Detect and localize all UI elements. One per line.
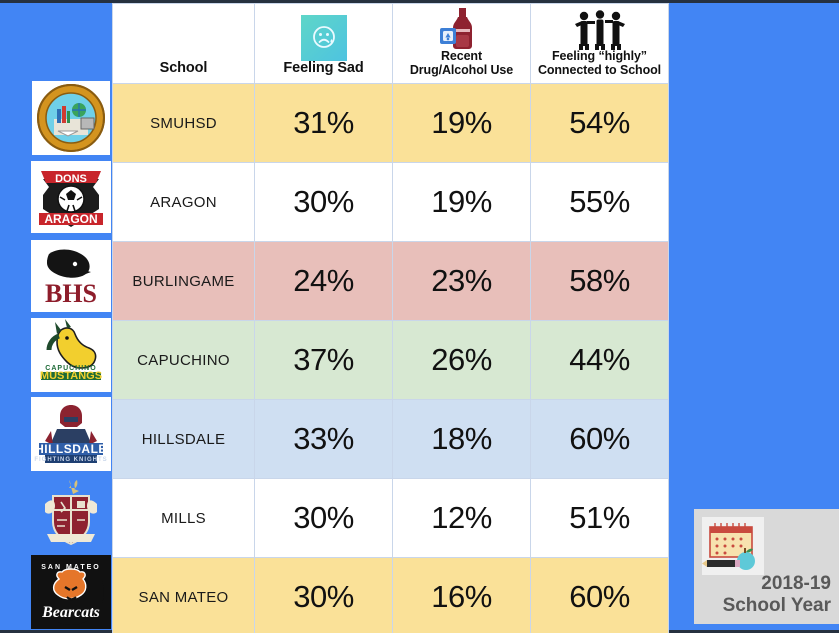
cell-feeling-sad: 30% (255, 558, 393, 633)
recycling-badge-icon (440, 28, 456, 44)
cell-school-name: SMUHSD (113, 84, 255, 163)
table-row: MILLS 30% 12% 51% (113, 479, 669, 558)
school-year-badge: 2018-19 School Year (694, 509, 839, 624)
column-header-drug-line2: Drug/Alcohol Use (410, 63, 513, 77)
column-header-drug-line1: Recent (441, 49, 482, 63)
column-header-connected-line2: Connected to School (538, 63, 661, 77)
svg-text:Bearcats: Bearcats (41, 604, 100, 621)
survey-results-table: School (112, 3, 669, 633)
mills-crest-logo (28, 473, 114, 552)
sad-face-icon (301, 15, 347, 61)
aragon-dons-icon: DONS ARAGON (31, 161, 111, 233)
column-header-school: School (113, 4, 255, 84)
hillsdale-knights-logo: HILLSDALE FIGHTING KNIGHTS (28, 394, 114, 473)
cell-drug-alcohol-use: 19% (393, 163, 531, 242)
table-row: SAN MATEO 30% 16% 60% (113, 558, 669, 633)
cell-school-name: BURLINGAME (113, 242, 255, 321)
cell-connected-to-school: 60% (531, 558, 669, 633)
header-row: School (113, 4, 669, 84)
school-logo-rail: DONS ARAGON BHS CAPUCHINO MUSTANGS (28, 78, 114, 631)
aragon-dons-logo: DONS ARAGON (28, 157, 114, 236)
school-year-line1: 2018-19 (761, 573, 831, 594)
hillsdale-knight-icon: HILLSDALE FIGHTING KNIGHTS (31, 397, 111, 471)
mills-crest-icon (31, 476, 111, 550)
cell-drug-alcohol-use: 19% (393, 84, 531, 163)
burlingame-bhs-logo: BHS (28, 236, 114, 315)
table-row: CAPUCHINO 37% 26% 44% (113, 321, 669, 400)
column-header-connected-line1: Feeling “highly” (552, 49, 647, 63)
column-header-drug-alcohol-use: Recent Drug/Alcohol Use (393, 4, 531, 84)
table-row: SMUHSD 31% 19% 54% (113, 84, 669, 163)
cell-connected-to-school: 44% (531, 321, 669, 400)
capuchino-mustang-icon: CAPUCHINO MUSTANGS (31, 318, 111, 392)
cell-feeling-sad: 30% (255, 163, 393, 242)
cell-drug-alcohol-use: 18% (393, 400, 531, 479)
cell-connected-to-school: 51% (531, 479, 669, 558)
svg-text:ARAGON: ARAGON (44, 212, 97, 226)
san-mateo-bearcats-logo: SAN MATEO Bearcats (28, 552, 114, 631)
cell-feeling-sad: 31% (255, 84, 393, 163)
table-row: BURLINGAME 24% 23% 58% (113, 242, 669, 321)
smuhsd-seal-icon (32, 81, 110, 155)
san-mateo-bearcat-icon: SAN MATEO Bearcats (31, 555, 111, 629)
cell-connected-to-school: 58% (531, 242, 669, 321)
svg-text:FIGHTING KNIGHTS: FIGHTING KNIGHTS (34, 457, 107, 463)
cell-drug-alcohol-use: 16% (393, 558, 531, 633)
cell-feeling-sad: 24% (255, 242, 393, 321)
people-connected-icon (569, 4, 631, 50)
cell-school-name: SAN MATEO (113, 558, 255, 633)
smuhsd-seal-logo (28, 78, 114, 157)
cell-drug-alcohol-use: 23% (393, 242, 531, 321)
cell-drug-alcohol-use: 12% (393, 479, 531, 558)
table-body: SMUHSD 31% 19% 54% ARAGON 30% 19% 55% BU… (113, 84, 669, 633)
cell-school-name: MILLS (113, 479, 255, 558)
burlingame-panther-icon: BHS (31, 240, 111, 312)
cell-feeling-sad: 30% (255, 479, 393, 558)
table-row: ARAGON 30% 19% 55% (113, 163, 669, 242)
cell-school-name: CAPUCHINO (113, 321, 255, 400)
cell-connected-to-school: 60% (531, 400, 669, 479)
school-year-line2: School Year (723, 595, 831, 616)
cell-feeling-sad: 33% (255, 400, 393, 479)
bottle-icon (436, 4, 488, 50)
column-header-school-label: School (160, 61, 208, 77)
svg-text:HILLSDALE: HILLSDALE (35, 442, 107, 456)
column-header-feeling-sad: Feeling Sad (255, 4, 393, 84)
column-header-feeling-sad-label: Feeling Sad (283, 61, 363, 77)
svg-text:DONS: DONS (55, 173, 87, 185)
table-header: School (113, 4, 669, 84)
cell-school-name: ARAGON (113, 163, 255, 242)
cell-feeling-sad: 37% (255, 321, 393, 400)
calendar-pencil-apple-icon (702, 517, 764, 575)
svg-text:BHS: BHS (45, 279, 97, 308)
capuchino-mustangs-logo: CAPUCHINO MUSTANGS (28, 315, 114, 394)
cell-connected-to-school: 54% (531, 84, 669, 163)
svg-text:MUSTANGS: MUSTANGS (40, 370, 102, 382)
cell-connected-to-school: 55% (531, 163, 669, 242)
table-row: HILLSDALE 33% 18% 60% (113, 400, 669, 479)
cell-drug-alcohol-use: 26% (393, 321, 531, 400)
column-header-connected-to-school: Feeling “highly” Connected to School (531, 4, 669, 84)
cell-school-name: HILLSDALE (113, 400, 255, 479)
